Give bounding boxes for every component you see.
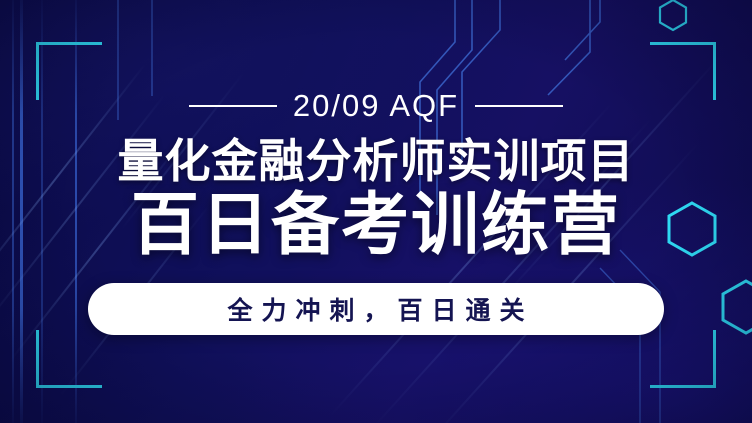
slogan-text: 全力冲刺，百日通关 — [218, 291, 533, 327]
eyebrow-text: 20/09 AQF — [293, 88, 459, 124]
banner-content: 20/09 AQF 量化金融分析师实训项目 百日备考训练营 全力冲刺，百日通关 — [0, 0, 752, 423]
eyebrow-rule-right — [475, 105, 563, 107]
eyebrow-rule-left — [189, 105, 277, 107]
headline-primary: 量化金融分析师实训项目 — [118, 137, 635, 185]
slogan-pill[interactable]: 全力冲刺，百日通关 — [88, 283, 664, 335]
headline-secondary: 百日备考训练营 — [131, 189, 621, 262]
promo-banner: 20/09 AQF 量化金融分析师实训项目 百日备考训练营 全力冲刺，百日通关 — [0, 0, 752, 423]
eyebrow-row: 20/09 AQF — [189, 88, 563, 124]
